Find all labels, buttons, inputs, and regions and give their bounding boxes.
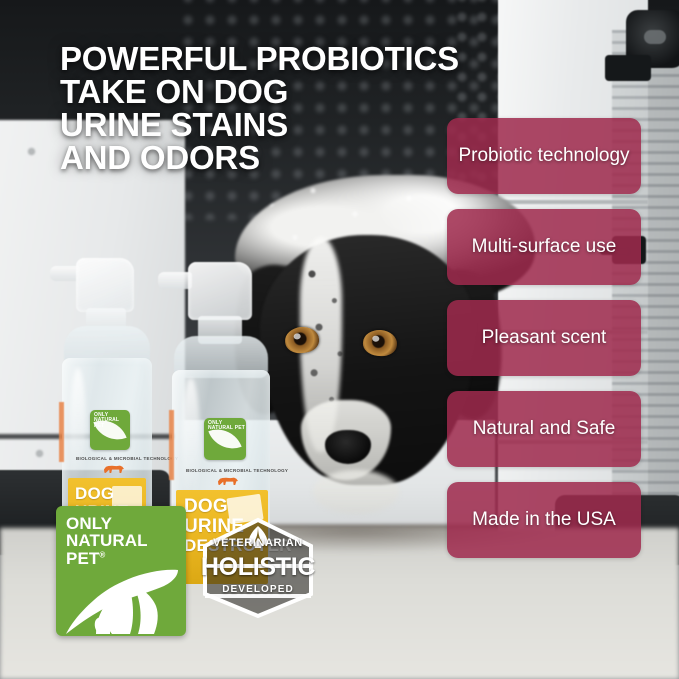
product-bottle-front: ONLY NATURAL PET BIOLOGICAL & MICROBIAL … [172,262,272,524]
crate-latch-bracket [605,55,651,81]
headline-line-4: AND ODORS [60,141,490,174]
holistic-badge-bottom-text: DEVELOPED [197,584,319,595]
advertisement-image: ONLY NATURAL PET BIOLOGICAL & MICROBIAL … [0,0,679,679]
bottle-brand-logo-back: ONLY NATURAL PET [90,410,130,450]
veterinarian-holistic-badge: VETERINARIAN HOLISTIC DEVELOPED [197,512,319,622]
feature-badge-list: Probiotic technology Multi-surface use P… [447,118,641,558]
feature-badge-natural-and-safe: Natural and Safe [447,391,641,467]
bottle-dog-icon-front [218,476,238,485]
bottle-brand-logo-front: ONLY NATURAL PET [204,418,246,460]
feature-badge-multi-surface-use: Multi-surface use [447,209,641,285]
product-bottle-back: ONLY NATURAL PET BIOLOGICAL & MICROBIAL … [62,258,154,518]
holistic-badge-main-text: HOLISTIC [197,553,319,582]
brand-logo-registered-mark: ® [99,550,105,559]
spray-nozzle-front [158,272,192,289]
holistic-badge-top-text: VETERINARIAN [197,537,319,549]
headline-line-2: TAKE ON DOG [60,75,490,108]
bottle-tagline-front: BIOLOGICAL & MICROBIAL TECHNOLOGY [186,468,288,473]
bottle-product-line1-back: DOG [75,486,114,503]
brand-logo: ONLY NATURAL PET® [56,506,186,636]
brand-logo-text: ONLY NATURAL PET® [66,515,148,567]
dog-chin [313,470,399,514]
headline-line-1: POWERFUL PROBIOTICS [60,42,490,75]
spray-trigger-front [188,262,252,320]
feature-badge-probiotic-technology: Probiotic technology [447,118,641,194]
brand-logo-line-1: ONLY [66,515,148,532]
headline: POWERFUL PROBIOTICS TAKE ON DOG URINE ST… [60,42,490,174]
bottle-dog-icon-back [104,464,124,473]
brand-logo-line-2: NATURAL [66,532,148,549]
bottle-tagline-back: BIOLOGICAL & MICROBIAL TECHNOLOGY [76,456,178,461]
headline-line-3: URINE STAINS [60,108,490,141]
feature-badge-made-in-the-usa: Made in the USA [447,482,641,558]
feature-badge-pleasant-scent: Pleasant scent [447,300,641,376]
spray-trigger-back [76,258,134,312]
leaf-cat-dog-icon [60,564,184,636]
